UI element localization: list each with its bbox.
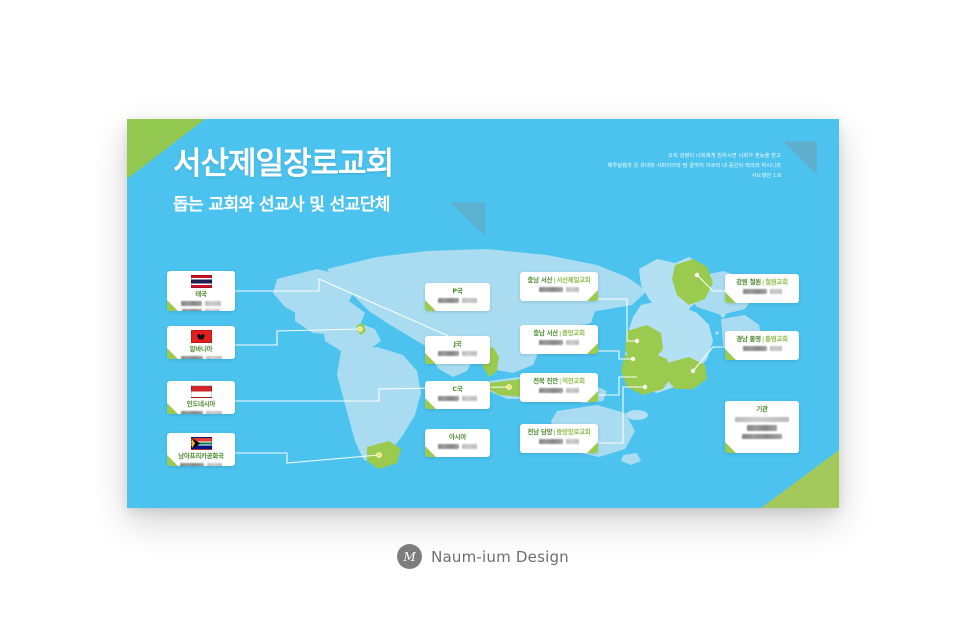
brand-footer: M Naum-ium Design: [0, 544, 966, 569]
redacted-name-row: [173, 411, 229, 414]
redacted-name-row: [173, 301, 229, 306]
redacted-name-row: [173, 463, 229, 466]
card-label: 경남 통영|통영교회: [731, 335, 793, 344]
card-overseas-albania[interactable]: 알바니아: [167, 326, 235, 359]
poster-canvas: 서산제일장로교회 돕는 교회와 선교사 및 선교단체 오직 성령이 너희에게 임…: [127, 119, 839, 508]
card-region: 전북 진안: [533, 377, 558, 385]
card-region: 강원 철원: [736, 278, 761, 286]
card-region: 충남 서산: [533, 329, 558, 337]
card-country-j[interactable]: J국: [425, 336, 490, 364]
card-label: 충남 서산|서산제일교회: [526, 276, 592, 285]
redacted-name-row: [731, 346, 793, 351]
card-label: 남아프리카공화국: [173, 452, 229, 461]
card-label: J국: [431, 340, 484, 349]
poster-header: 서산제일장로교회 돕는 교회와 선교사 및 선교단체: [173, 147, 393, 215]
card-church: 중앙교회: [562, 329, 585, 337]
card-church: 철원교회: [765, 278, 788, 286]
indonesia-flag: [191, 385, 212, 398]
redacted-name-row: [173, 356, 229, 359]
card-label: C국: [431, 385, 484, 394]
redacted-name-row: [431, 351, 484, 356]
redacted-name-row: [526, 287, 592, 292]
card-region: 충남 서산: [528, 276, 553, 284]
card-domestic-chungnam-seosan-2[interactable]: 충남 서산|중앙교회: [520, 325, 598, 354]
card-church: 통영교회: [765, 335, 788, 343]
verse-reference: 사도행전 1:8: [608, 171, 781, 181]
card-label: 강원 철원|철원교회: [731, 278, 793, 287]
redacted-name-row: [173, 309, 229, 311]
card-region: 전남 담양: [528, 428, 553, 436]
redacted-name-row: [431, 444, 484, 449]
card-domestic-gangwon-cheorwon[interactable]: 강원 철원|철원교회: [725, 274, 799, 303]
redacted-name-row: [526, 340, 592, 345]
page-subtitle: 돕는 교회와 선교사 및 선교단체: [173, 190, 393, 215]
redacted-name-row: [431, 396, 484, 401]
card-church: 덕천교회: [562, 377, 585, 385]
redacted-name-row: [431, 298, 484, 303]
redacted-name-row: [731, 434, 793, 440]
scripture-verse: 오직 성령이 너희에게 임하시면 너희가 권능을 받고 예루살렘과 온 유대와 …: [608, 151, 781, 181]
card-institution[interactable]: 기관: [725, 401, 799, 453]
south-africa-flag: [191, 437, 212, 450]
card-country-c[interactable]: C국: [425, 381, 490, 409]
card-label: 인도네시아: [173, 400, 229, 409]
albania-eagle-icon: [197, 334, 205, 340]
card-label: 아시아: [431, 433, 484, 442]
card-overseas-thailand[interactable]: 태국: [167, 271, 235, 311]
redacted-name-row: [526, 439, 592, 444]
card-church: 서산제일교회: [556, 276, 590, 284]
card-region: 경남 통영: [736, 335, 761, 343]
naum-ium-logo-icon: M: [397, 544, 422, 569]
verse-line-2: 예루살렘과 온 유대와 사마리아와 땅 끝까지 이르러 내 증인이 되리라 하시…: [608, 161, 781, 171]
card-label: 전북 진안|덕천교회: [526, 377, 592, 386]
card-domestic-jeonbuk-jinan[interactable]: 전북 진안|덕천교회: [520, 373, 598, 402]
card-label: 전남 담양|중앙장로교회: [526, 428, 592, 437]
albania-flag: [191, 330, 212, 343]
card-overseas-south-africa[interactable]: 남아프리카공화국: [167, 433, 235, 466]
card-domestic-jeonnam-damyang[interactable]: 전남 담양|중앙장로교회: [520, 424, 598, 453]
card-country-p[interactable]: P국: [425, 283, 490, 311]
redacted-name-row: [731, 289, 793, 294]
redacted-name-row: [526, 388, 592, 393]
redacted-name-row: [731, 417, 793, 423]
thailand-flag: [191, 275, 212, 288]
card-label: 알바니아: [173, 345, 229, 354]
card-region-asia[interactable]: 아시아: [425, 429, 490, 457]
card-label: 기관: [731, 405, 793, 414]
card-domestic-chungnam-seosan-1[interactable]: 충남 서산|서산제일교회: [520, 272, 598, 301]
redacted-name-row: [731, 425, 793, 431]
card-domestic-gyeongnam-tongyeong[interactable]: 경남 통영|통영교회: [725, 331, 799, 360]
verse-line-1: 오직 성령이 너희에게 임하시면 너희가 권능을 받고: [608, 151, 781, 161]
brand-name: Naum-ium Design: [431, 548, 569, 566]
card-overseas-indonesia[interactable]: 인도네시아: [167, 381, 235, 414]
card-label: 충남 서산|중앙교회: [526, 329, 592, 338]
card-church: 중앙장로교회: [556, 428, 590, 436]
card-label: P국: [431, 287, 484, 296]
card-label: 태국: [173, 290, 229, 299]
page-title: 서산제일장로교회: [173, 147, 393, 181]
